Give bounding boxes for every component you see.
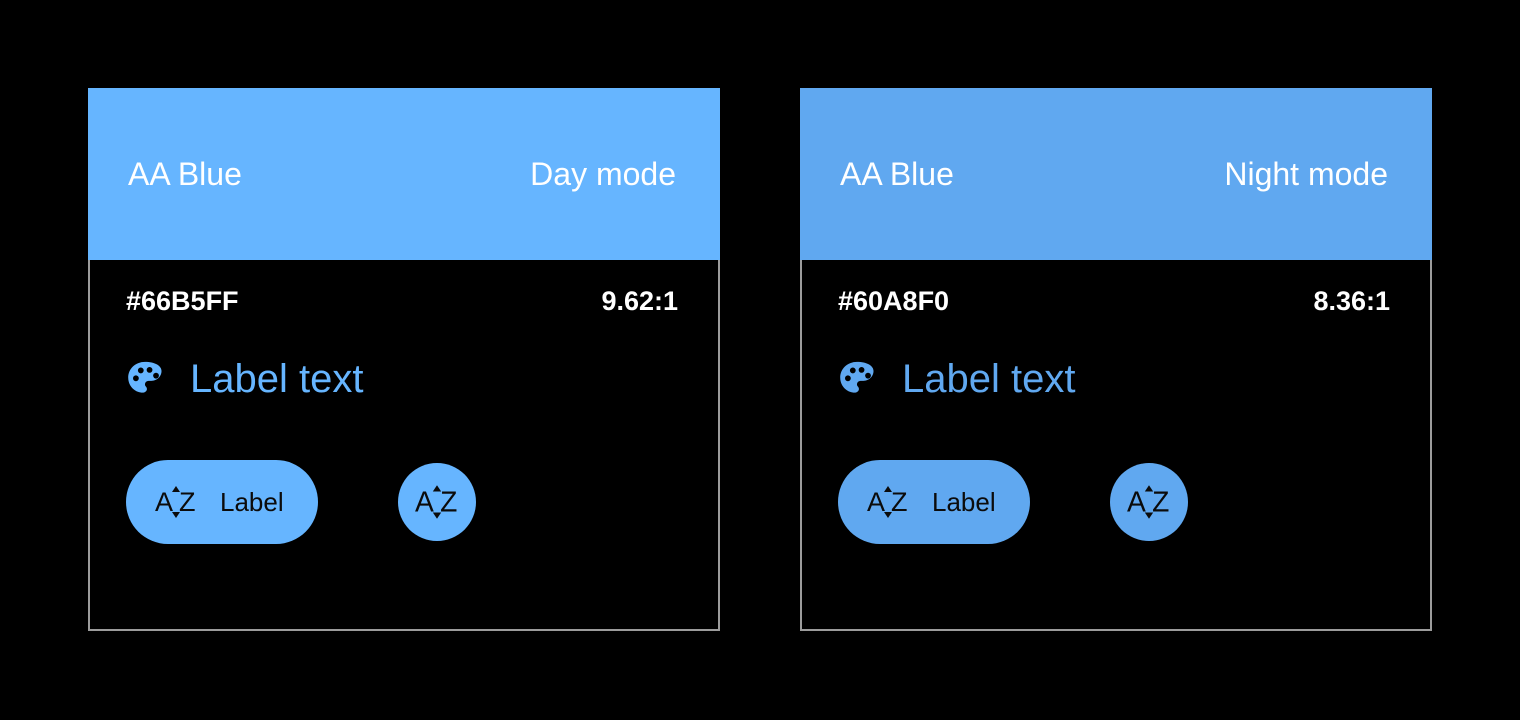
hex-value-night: #60A8F0 — [838, 288, 949, 315]
card-body-day: #66B5FF 9.62:1 Label text A Z — [88, 260, 720, 631]
svg-text:A: A — [1127, 485, 1146, 517]
contrast-ratio-day: 9.62:1 — [601, 288, 678, 315]
sort-pill-button-night[interactable]: A Z Label — [838, 460, 1030, 544]
sort-alpha-icon: A Z — [154, 482, 198, 522]
card-mode-label-night: Night mode — [1224, 158, 1392, 190]
svg-text:A: A — [867, 487, 885, 517]
color-swatch-card-night: AA Blue Night mode #60A8F0 8.36:1 Label … — [800, 88, 1432, 631]
card-title-night: AA Blue — [840, 158, 954, 190]
sample-label-row-day: Label text — [124, 358, 363, 400]
svg-text:Z: Z — [440, 485, 457, 517]
contrast-ratio-night: 8.36:1 — [1313, 288, 1390, 315]
sort-pill-button-label-day: Label — [220, 489, 284, 515]
sort-pill-button-day[interactable]: A Z Label — [126, 460, 318, 544]
card-header-day: AA Blue Day mode — [88, 88, 720, 260]
button-row-day: A Z Label A Z — [126, 460, 476, 544]
card-header-night: AA Blue Night mode — [800, 88, 1432, 260]
svg-text:A: A — [415, 485, 434, 517]
sort-alpha-icon: A Z — [414, 481, 460, 523]
sort-fab-button-night[interactable]: A Z — [1110, 463, 1188, 541]
card-body-night: #60A8F0 8.36:1 Label text A Z — [800, 260, 1432, 631]
button-row-night: A Z Label A Z — [838, 460, 1188, 544]
palette-icon — [836, 358, 878, 400]
sort-pill-button-label-night: Label — [932, 489, 996, 515]
color-swatch-card-day: AA Blue Day mode #66B5FF 9.62:1 Label te… — [88, 88, 720, 631]
card-title-day: AA Blue — [128, 158, 242, 190]
card-mode-label-day: Day mode — [530, 158, 680, 190]
svg-text:A: A — [155, 487, 173, 517]
comparison-stage: AA Blue Day mode #66B5FF 9.62:1 Label te… — [0, 0, 1520, 720]
sort-fab-button-day[interactable]: A Z — [398, 463, 476, 541]
sample-label-text-day: Label text — [190, 359, 363, 399]
svg-text:Z: Z — [1152, 485, 1169, 517]
sample-label-row-night: Label text — [836, 358, 1075, 400]
svg-text:Z: Z — [179, 487, 196, 517]
sample-label-text-night: Label text — [902, 359, 1075, 399]
hex-value-day: #66B5FF — [126, 288, 239, 315]
palette-icon — [124, 358, 166, 400]
sort-alpha-icon: A Z — [866, 482, 910, 522]
svg-text:Z: Z — [891, 487, 908, 517]
spec-row-night: #60A8F0 8.36:1 — [838, 288, 1390, 315]
sort-alpha-icon: A Z — [1126, 481, 1172, 523]
spec-row-day: #66B5FF 9.62:1 — [126, 288, 678, 315]
